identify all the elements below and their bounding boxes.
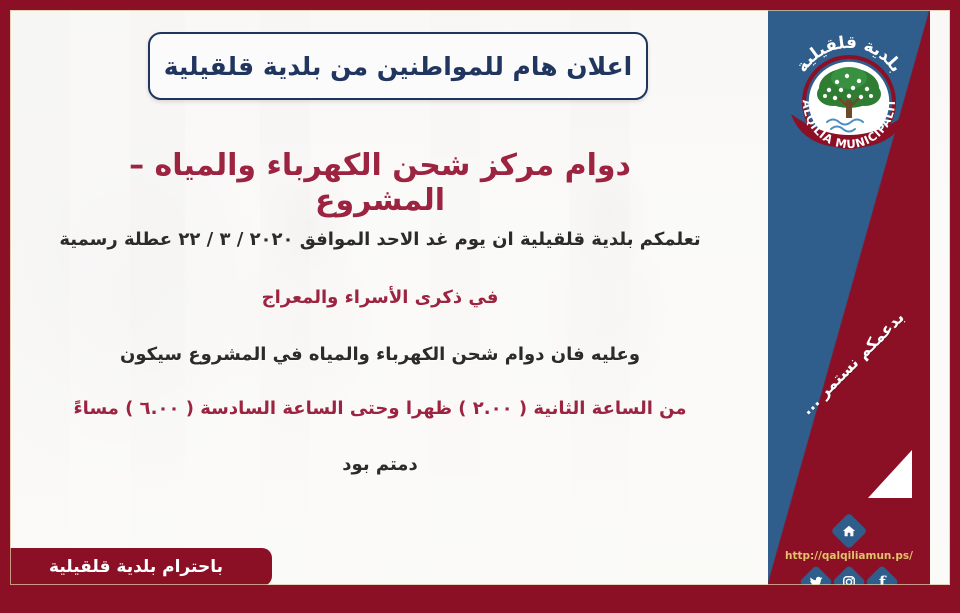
announcement-poster: اعلان هام للمواطنين من بلدية قلقيلية دوا… — [0, 0, 960, 613]
home-glyph — [842, 524, 856, 538]
twitter-glyph — [809, 575, 824, 586]
announcement-body: تعلمكم بلدية قلقيلية ان يوم غد الاحد الم… — [40, 228, 720, 477]
body-line-3: وعليه فان دوام شحن الكهرباء والمياه في ا… — [40, 343, 720, 367]
header-title-box: اعلان هام للمواطنين من بلدية قلقيلية — [148, 32, 648, 100]
bottom-strip — [0, 585, 960, 613]
facebook-glyph: f — [879, 574, 886, 585]
header-title-text: اعلان هام للمواطنين من بلدية قلقيلية — [164, 52, 632, 81]
logo-svg: بلدية قلقيلية — [781, 26, 917, 162]
website-url[interactable]: http://qalqiliamun.ps/ — [768, 550, 930, 562]
body-line-4: من الساعة الثانية ( ٢.٠٠ ) ظهرا وحتى الس… — [40, 397, 720, 421]
footer-signature-text: باحترام بلدية قلقيلية — [49, 557, 223, 577]
social-links: f — [768, 570, 930, 585]
footer-signature-tab: باحترام بلدية قلقيلية — [0, 548, 272, 586]
main-title: دوام مركز شحن الكهرباء والمياه – المشروع — [60, 148, 700, 218]
body-line-5: دمتم بود — [40, 453, 720, 477]
body-line-1: تعلمكم بلدية قلقيلية ان يوم غد الاحد الم… — [40, 228, 720, 252]
white-triangle-accent — [868, 450, 912, 498]
municipality-logo: بلدية قلقيلية — [781, 26, 917, 162]
instagram-glyph — [842, 575, 856, 585]
sidebar-panel: بلدية قلقيلية — [768, 10, 930, 585]
body-line-2: في ذكرى الأسراء والمعراج — [40, 286, 720, 310]
